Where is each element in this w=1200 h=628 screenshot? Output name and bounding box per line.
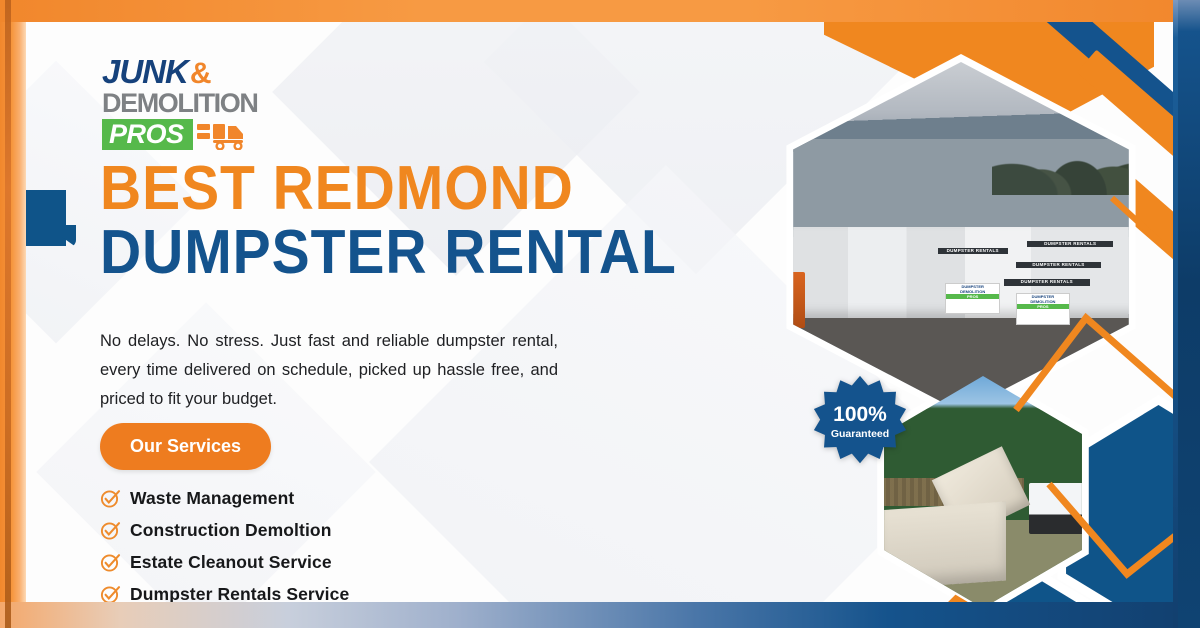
- list-item[interactable]: Dumpster Rentals Service: [100, 584, 349, 602]
- photo-sign: DUMPSTER RENTALS: [938, 248, 1008, 255]
- list-item-label: Dumpster Rentals Service: [130, 584, 349, 602]
- frame-right-accent: [1173, 0, 1178, 628]
- check-circle-icon: [100, 584, 121, 602]
- logo-word-junk: JUNK: [102, 55, 188, 88]
- frame-right: [1178, 0, 1200, 628]
- chevron-accent-icon: [886, 585, 1156, 602]
- chevron-accent-icon: [1041, 470, 1173, 590]
- banner-card: DUMPSTER RENTALS DUMPSTER RENTALS DUMPST…: [26, 22, 1173, 602]
- list-item[interactable]: Waste Management: [100, 488, 349, 509]
- list-item-label: Waste Management: [130, 488, 294, 509]
- frame-left: [0, 0, 26, 628]
- check-circle-icon: [100, 520, 121, 541]
- banner-root: DUMPSTER RENTALS DUMPSTER RENTALS DUMPST…: [0, 0, 1200, 628]
- bin-logo-decal: DUMPSTER DEMOLITION PROS: [945, 283, 1000, 315]
- photo-sign: DUMPSTER RENTALS: [1027, 241, 1113, 248]
- logo-word-pros: PROS: [109, 119, 184, 149]
- logo-pros-badge: PROS: [102, 119, 193, 150]
- check-circle-icon: [100, 488, 121, 509]
- bookmark-tab-shape: [26, 190, 66, 246]
- frame-bottom: [0, 602, 1200, 628]
- page-title: BEST REDMOND DUMPSTER RENTAL: [100, 161, 727, 281]
- services-list: Waste Management Construction Demoltion: [100, 488, 349, 602]
- list-item-label: Estate Cleanout Service: [130, 552, 332, 573]
- headline-line-2: DUMPSTER RENTAL: [100, 225, 677, 281]
- photo-sign: DUMPSTER RENTALS: [1004, 279, 1090, 286]
- our-services-button[interactable]: Our Services: [100, 423, 271, 470]
- chevron-accent-icon: [1006, 300, 1173, 420]
- graphics-zone: DUMPSTER RENTALS DUMPSTER RENTALS DUMPST…: [586, 22, 1173, 602]
- logo-word-demolition: DEMOLITION: [102, 90, 262, 117]
- list-item-label: Construction Demoltion: [130, 520, 332, 541]
- photo-sign: DUMPSTER RENTALS: [1016, 262, 1102, 269]
- status-badge: 100% Guaranteed: [812, 374, 908, 470]
- list-item[interactable]: Construction Demoltion: [100, 520, 349, 541]
- brand-logo[interactable]: JUNK & DEMOLITION PROS: [102, 55, 262, 147]
- headline-line-1: BEST REDMOND: [100, 161, 677, 217]
- list-item[interactable]: Estate Cleanout Service: [100, 552, 349, 573]
- truck-icon: [197, 120, 249, 150]
- frame-top: [0, 0, 1200, 22]
- logo-ampersand: &: [190, 59, 212, 89]
- chevron-accent-icon: [1106, 190, 1173, 310]
- check-circle-icon: [100, 552, 121, 573]
- intro-paragraph: No delays. No stress. Just fast and reli…: [100, 327, 558, 415]
- frame-left-accent: [5, 0, 11, 628]
- dumpster-container: [877, 501, 1006, 589]
